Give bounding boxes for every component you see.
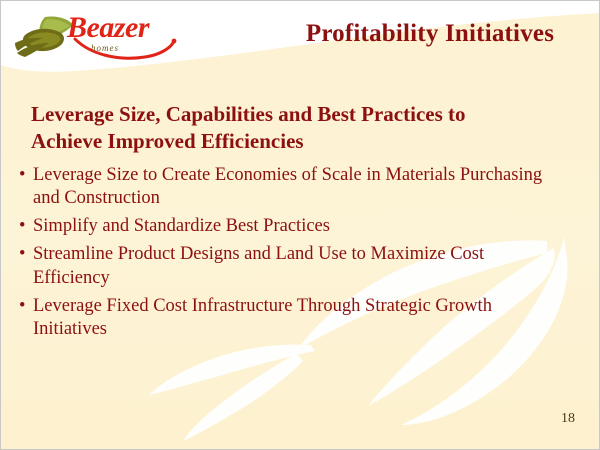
bullet-icon: • xyxy=(19,164,25,187)
beazer-homes-logo: Beazer homes xyxy=(15,11,185,63)
page-number: 18 xyxy=(561,411,575,427)
page-title: Profitability Initiatives xyxy=(271,20,589,48)
list-item-text: Simplify and Standardize Best Practices xyxy=(33,215,549,238)
list-item: • Leverage Fixed Cost Infrastructure Thr… xyxy=(17,295,563,342)
slide-body: Leverage Size, Capabilities and Best Pra… xyxy=(17,101,573,347)
list-item-text: Leverage Size to Create Economies of Sca… xyxy=(33,164,549,211)
bullet-icon: • xyxy=(19,295,25,318)
list-item: • Leverage Size to Create Economies of S… xyxy=(17,164,563,211)
list-item: • Streamline Product Designs and Land Us… xyxy=(17,243,563,290)
list-item: • Simplify and Standardize Best Practice… xyxy=(17,215,563,238)
section-subheading: Leverage Size, Capabilities and Best Pra… xyxy=(31,101,499,156)
logo-swash-icon xyxy=(73,35,185,61)
logo-subtext: homes xyxy=(91,43,119,53)
list-item-text: Leverage Fixed Cost Infrastructure Throu… xyxy=(33,295,549,342)
bullet-icon: • xyxy=(19,243,25,266)
bullet-icon: • xyxy=(19,215,25,238)
list-item-text: Streamline Product Designs and Land Use … xyxy=(33,243,549,290)
presentation-slide: Beazer homes Profitability Initiatives L… xyxy=(0,0,600,450)
bullet-list: • Leverage Size to Create Economies of S… xyxy=(17,164,573,342)
